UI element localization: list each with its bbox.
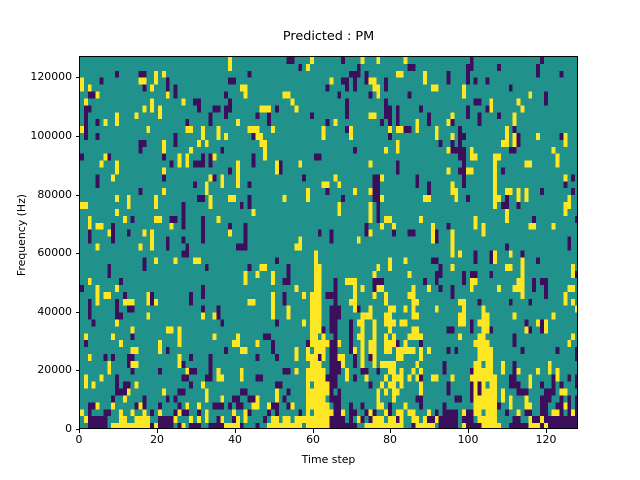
y-tick-mark-100000 — [76, 136, 80, 137]
x-tick-mark-120 — [546, 429, 547, 433]
x-tick-label-0: 0 — [49, 434, 109, 446]
y-axis-tick-labels: 0 20000 40000 60000 80000 100000 120000 — [0, 0, 72, 480]
x-tick-mark-40 — [235, 429, 236, 433]
x-tick-label-120: 120 — [516, 434, 576, 446]
y-axis-label: Frequency (Hz) — [15, 135, 29, 335]
x-tick-label-40: 40 — [205, 434, 265, 446]
heatmap-image — [80, 57, 578, 429]
x-tick-mark-100 — [468, 429, 469, 433]
x-tick-label-80: 80 — [360, 434, 420, 446]
y-tick-mark-120000 — [76, 77, 80, 78]
x-tick-mark-20 — [157, 429, 158, 433]
y-tick-mark-20000 — [76, 370, 80, 371]
matplotlib-figure: Predicted : PM 0 20000 40000 60000 80000… — [0, 0, 640, 480]
x-tick-mark-0 — [79, 429, 80, 433]
x-axis-label: Time step — [79, 453, 578, 467]
x-tick-label-60: 60 — [283, 434, 343, 446]
y-tick-mark-80000 — [76, 195, 80, 196]
y-tick-label-20000: 20000 — [8, 364, 72, 376]
page-title: Predicted : PM — [79, 29, 578, 45]
x-tick-mark-60 — [313, 429, 314, 433]
x-tick-label-100: 100 — [438, 434, 498, 446]
y-tick-label-120000: 120000 — [8, 71, 72, 83]
y-tick-mark-40000 — [76, 312, 80, 313]
y-tick-mark-60000 — [76, 253, 80, 254]
x-tick-label-20: 20 — [127, 434, 187, 446]
x-tick-mark-80 — [390, 429, 391, 433]
heatmap-plot-area — [79, 56, 578, 429]
